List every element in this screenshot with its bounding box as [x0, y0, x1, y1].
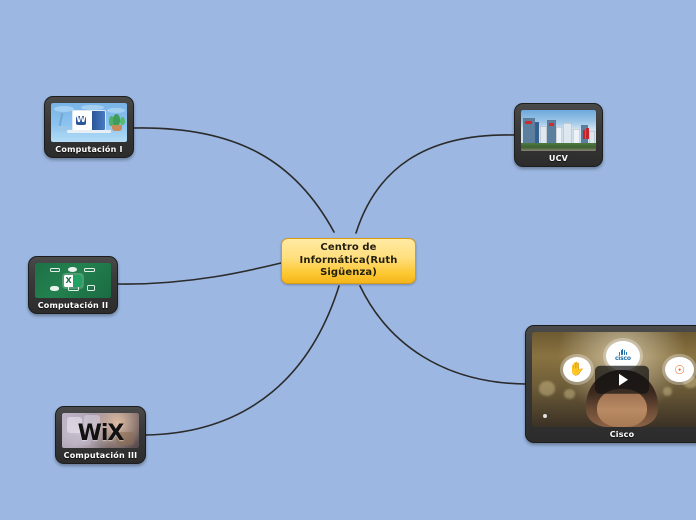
excel-icon-grid: X: [35, 263, 111, 298]
laptop-icon: W: [72, 110, 107, 131]
building: [573, 129, 581, 144]
building: [556, 127, 562, 143]
node-label-computacion-3: Computación III: [62, 448, 139, 463]
cisco-wordmark: cisco: [615, 356, 631, 362]
wix-photo: WiX: [62, 413, 139, 448]
excel-sheet: [73, 275, 82, 288]
mindmap-canvas: Centro de Informática(Ruth Sigüenza) W: [0, 0, 696, 520]
root-label-line-3: Sigüenza): [320, 267, 377, 278]
document-icon: [87, 285, 95, 291]
table-icon: [50, 268, 60, 273]
building: [535, 122, 540, 143]
node-label-computacion-1: Computación I: [51, 142, 127, 157]
head-idea-icon-badge: ☉: [665, 357, 694, 383]
building: [589, 131, 596, 143]
thumbnail-computacion-2: X: [35, 263, 111, 298]
node-label-cisco: Cisco: [532, 427, 696, 442]
node-label-computacion-2: Computación II: [35, 298, 111, 313]
root-label-line-1: Centro de: [320, 242, 376, 253]
cloud-icon: [107, 108, 125, 113]
bokeh-light: [539, 381, 555, 395]
edge-ucv: [356, 135, 514, 233]
thumbnail-ucv: [521, 110, 596, 151]
plant-leaf-icon: [113, 114, 121, 126]
wix-logo: WiX: [62, 422, 139, 446]
root-label-line-2: Informática(Ruth: [300, 255, 398, 266]
banner: [525, 121, 532, 125]
flag-icon: [586, 128, 589, 139]
person-face: [597, 389, 647, 427]
ground: [521, 143, 596, 151]
excel-letter: X: [64, 275, 73, 288]
play-icon: [619, 374, 628, 386]
laptop-screen: [92, 111, 106, 130]
node-computacion-3[interactable]: WiX Computación III: [55, 406, 146, 464]
edge-computacion-1: [134, 128, 334, 232]
campus-photo: [521, 110, 596, 151]
laptop-base: [67, 130, 111, 133]
edge-computacion-3: [146, 286, 339, 435]
database-icon: [50, 286, 59, 291]
bokeh-light: [564, 389, 575, 399]
root-node-label: Centro de Informática(Ruth Sigüenza): [294, 242, 404, 280]
line-chart-icon: [84, 268, 95, 273]
flag-icon: [583, 130, 585, 139]
edge-computacion-2: [118, 263, 281, 284]
node-computacion-1[interactable]: W Computación I: [44, 96, 134, 158]
node-cisco[interactable]: cisco ✋ ☉ Cisco: [525, 325, 696, 443]
thumbnail-computacion-3: WiX: [62, 413, 139, 448]
building: [540, 126, 547, 144]
plant-pot-icon: [112, 125, 122, 131]
building: [563, 123, 572, 144]
head-idea-icon: ☉: [674, 364, 685, 376]
bokeh-light: [663, 387, 672, 396]
thumbnail-computacion-1: W: [51, 103, 127, 142]
hand-icon-badge: ✋: [563, 357, 592, 383]
plant-leaf-icon: [120, 117, 125, 126]
node-ucv[interactable]: UCV: [514, 103, 603, 167]
pie-chart-icon: [68, 267, 77, 272]
cloud-icon: [54, 106, 74, 112]
excel-icon: X: [64, 275, 82, 288]
cisco-video-frame: cisco ✋ ☉: [532, 332, 696, 427]
node-label-ucv: UCV: [521, 151, 596, 166]
word-desk-illustration: W: [51, 103, 127, 142]
root-node[interactable]: Centro de Informática(Ruth Sigüenza): [281, 238, 416, 284]
thumbnail-cisco: cisco ✋ ☉: [532, 332, 696, 427]
banner: [549, 123, 554, 126]
video-progress-dot[interactable]: [543, 414, 547, 418]
node-computacion-2[interactable]: X Computación II: [28, 256, 118, 314]
play-button[interactable]: [595, 365, 649, 394]
edge-cisco: [360, 286, 525, 384]
hand-icon: ✋: [569, 363, 585, 376]
word-icon: W: [76, 116, 86, 125]
